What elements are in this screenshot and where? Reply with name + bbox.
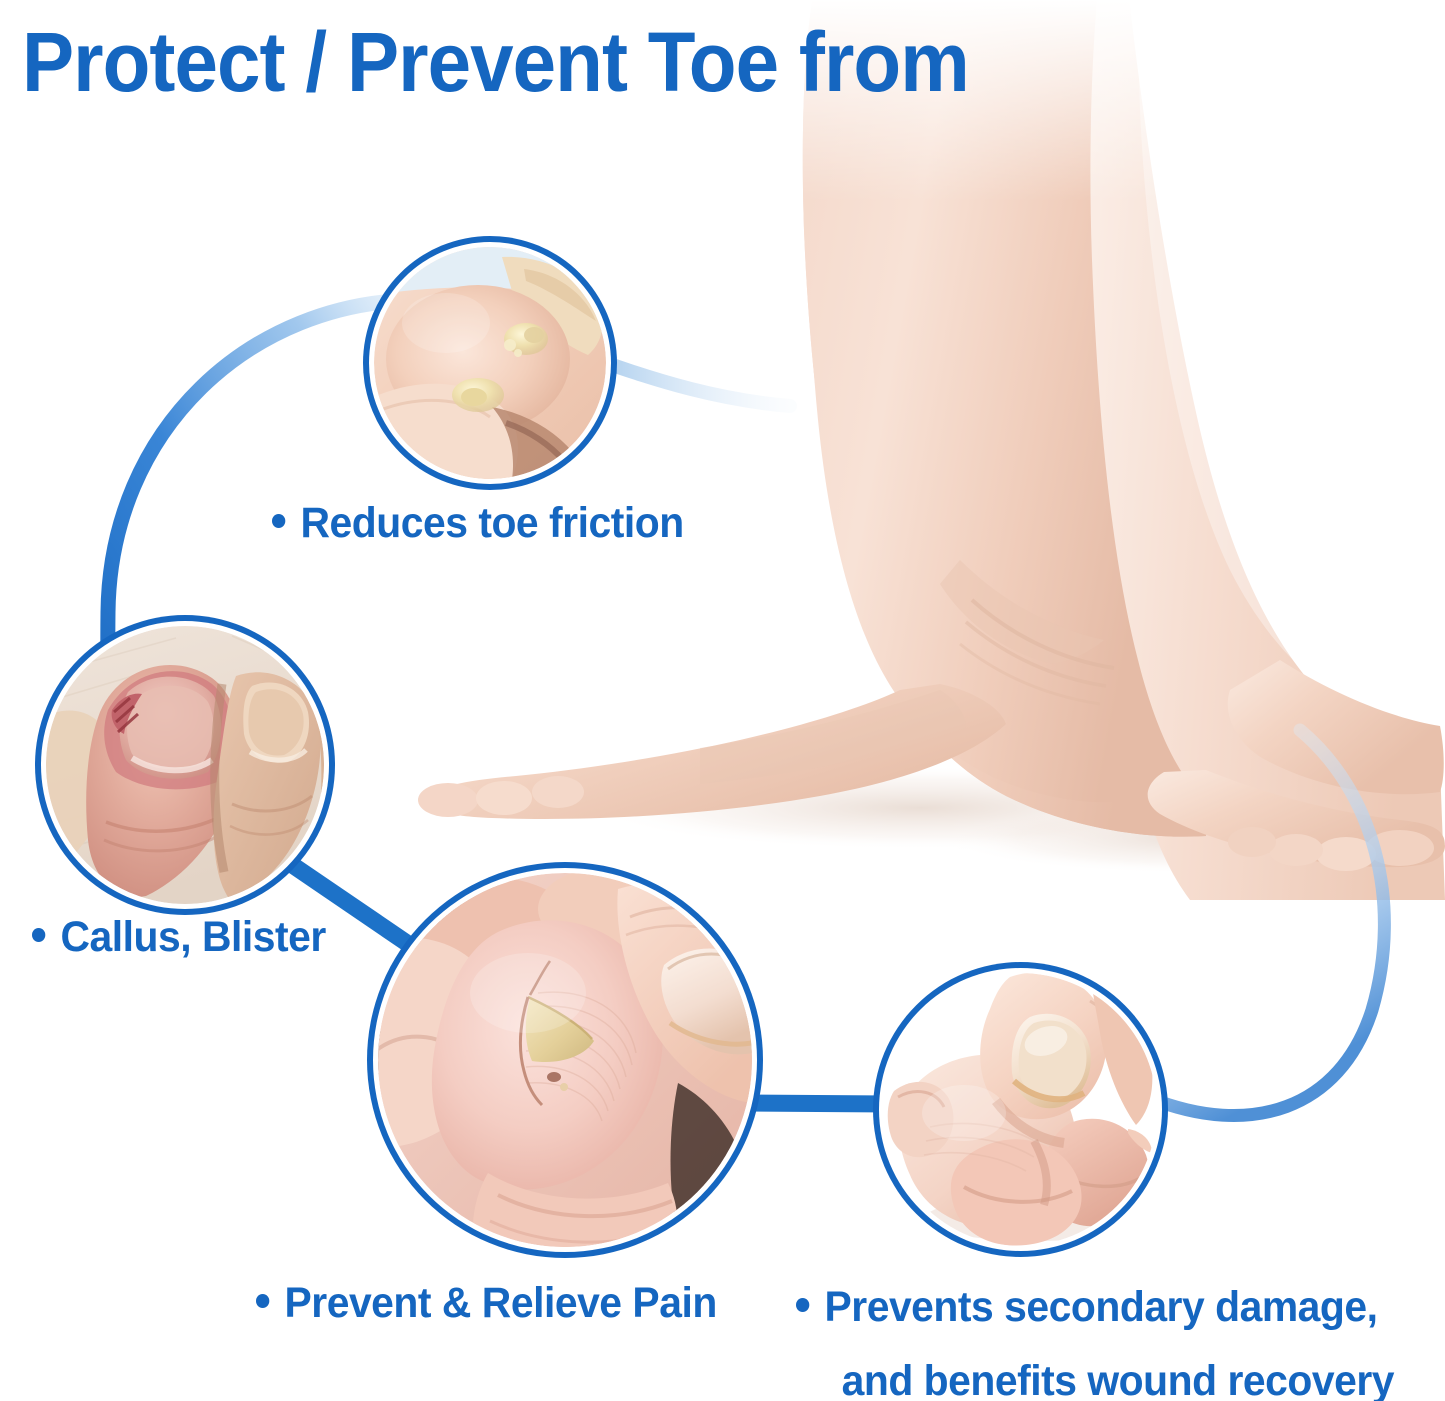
benefit-label-friction: Reduces toe friction [272, 494, 684, 552]
bullet-icon [796, 1298, 809, 1312]
benefit-damage-text-line2: and benefits wound recovery [842, 1344, 1394, 1401]
product-infographic: Protect / Prevent Toe from Reduces toe f… [0, 0, 1445, 1401]
benefit-callus-text: Callus, Blister [61, 913, 326, 961]
bullet-icon [272, 514, 285, 528]
benefit-friction-text: Reduces toe friction [301, 499, 684, 547]
benefit-damage-text-line1: Prevents secondary damage, [825, 1283, 1378, 1331]
benefit-pain-text: Prevent & Relieve Pain [285, 1279, 717, 1327]
benefit-label-secondary-damage: Prevents secondary damage, and benefits … [796, 1270, 1394, 1401]
benefit-label-callus-blister: Callus, Blister [32, 908, 326, 966]
bullet-icon [256, 1294, 269, 1308]
page-title: Protect / Prevent Toe from [22, 18, 1064, 106]
overlapping-toes-photo [884, 973, 1157, 1246]
toe-blister-photo [374, 247, 606, 479]
toe-callus-photo [378, 873, 752, 1247]
benefit-label-pain: Prevent & Relieve Pain [256, 1274, 717, 1332]
ingrown-toenail-photo [46, 626, 324, 904]
bullet-icon [32, 928, 45, 942]
